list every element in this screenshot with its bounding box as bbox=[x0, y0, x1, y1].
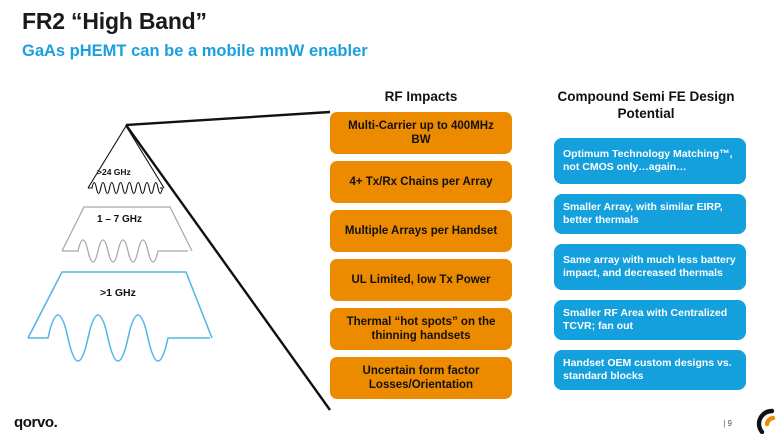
qorvo-arc-icon bbox=[742, 406, 776, 434]
rf-impact-item[interactable]: Thermal “hot spots” on the thinning hand… bbox=[330, 308, 512, 350]
compound-semi-list: Optimum Technology Matching™, not CMOS o… bbox=[554, 138, 746, 400]
qorvo-logo: qorvo. bbox=[14, 414, 57, 431]
compound-semi-item[interactable]: Same array with much less battery impact… bbox=[554, 244, 746, 290]
rf-impact-item[interactable]: UL Limited, low Tx Power bbox=[330, 259, 512, 301]
rf-impacts-list: Multi-Carrier up to 400MHz BW 4+ Tx/Rx C… bbox=[330, 112, 512, 406]
rf-impact-item[interactable]: Uncertain form factor Losses/Orientation bbox=[330, 357, 512, 399]
funnel-connector bbox=[126, 112, 330, 410]
compound-semi-item[interactable]: Smaller Array, with similar EIRP, better… bbox=[554, 194, 746, 234]
compound-semi-item[interactable]: Optimum Technology Matching™, not CMOS o… bbox=[554, 138, 746, 184]
page-title: FR2 “High Band” bbox=[22, 8, 207, 35]
band-label-1ghz: >1 GHz bbox=[100, 287, 136, 299]
rf-impact-item[interactable]: 4+ Tx/Rx Chains per Array bbox=[330, 161, 512, 203]
rf-impact-item[interactable]: Multi-Carrier up to 400MHz BW bbox=[330, 112, 512, 154]
rf-impacts-heading: RF Impacts bbox=[330, 89, 512, 106]
page-number: | 9 bbox=[723, 419, 732, 428]
compound-semi-item[interactable]: Handset OEM custom designs vs. standard … bbox=[554, 350, 746, 390]
band-label-24ghz: >24 GHz bbox=[97, 167, 131, 177]
band-shape-1ghz bbox=[28, 272, 212, 361]
band-shape-24ghz bbox=[88, 126, 164, 194]
slide-canvas: FR2 “High Band” GaAs pHEMT can be a mobi… bbox=[0, 0, 784, 436]
compound-semi-heading: Compound Semi FE Design Potential bbox=[548, 89, 744, 123]
compound-semi-item[interactable]: Smaller RF Area with Centralized TCVR; f… bbox=[554, 300, 746, 340]
rf-impact-item[interactable]: Multiple Arrays per Handset bbox=[330, 210, 512, 252]
band-label-1-7ghz: 1 – 7 GHz bbox=[97, 214, 142, 225]
page-subtitle: GaAs pHEMT can be a mobile mmW enabler bbox=[22, 42, 368, 61]
